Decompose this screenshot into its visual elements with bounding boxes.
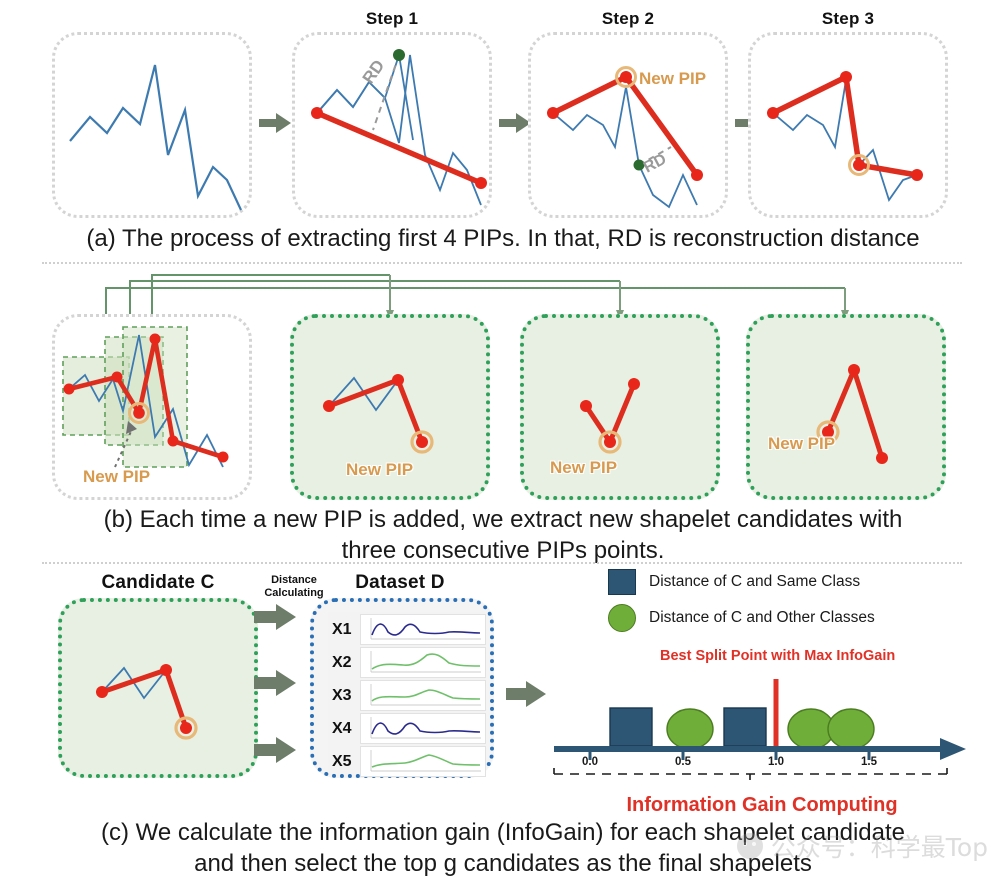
mini-chart xyxy=(360,614,486,645)
marker-square xyxy=(724,708,766,746)
mini-chart-svg xyxy=(361,747,485,776)
mini-chart-svg xyxy=(361,648,485,677)
panel-b-candidate-3: New PIP xyxy=(746,314,946,500)
caption-b-line1: (b) Each time a new PIP is added, we ext… xyxy=(0,504,1006,535)
dataset-row-x1: X1 xyxy=(332,614,486,645)
panel-c-dataset: X1 X2 xyxy=(310,598,494,778)
new-pip-label: New PIP xyxy=(550,458,617,478)
raw-series-chart xyxy=(55,35,255,221)
step3-chart xyxy=(751,35,951,221)
square-icon xyxy=(608,569,636,595)
figure-root: Step 1 RD Step 2 New PIP R xyxy=(0,0,1006,880)
mini-chart xyxy=(360,647,486,678)
caption-a: (a) The process of extracting first 4 PI… xyxy=(0,223,1006,254)
marker-circle xyxy=(788,709,834,749)
marker-circle xyxy=(667,709,713,749)
dataset-row-label: X3 xyxy=(332,687,352,705)
panel-a-step1: Step 1 RD xyxy=(292,32,492,218)
divider-a-b xyxy=(42,262,962,264)
panel-b-candidate-1: New PIP xyxy=(290,314,490,500)
new-pip-label: New PIP xyxy=(83,467,150,487)
arrow-right-icon xyxy=(258,110,294,136)
tick-label-1: 0.5 xyxy=(663,756,703,768)
new-pip-label: New PIP xyxy=(346,460,413,480)
panel-a-step2: Step 2 New PIP RD xyxy=(528,32,728,218)
mini-chart xyxy=(360,746,486,777)
mini-chart-svg xyxy=(361,615,485,644)
marker-circle xyxy=(828,709,874,749)
new-pip-label: New PIP xyxy=(768,434,835,454)
panel-a-step3: Step 3 xyxy=(748,32,948,218)
panel-a-step3-title: Step 3 xyxy=(751,9,945,29)
dataset-row-x5: X5 xyxy=(332,746,486,777)
panel-a-raw-series xyxy=(52,32,252,218)
caption-c-line2: and then select the top g candidates as … xyxy=(0,848,1006,879)
panel-a-step2-title: Step 2 xyxy=(531,9,725,29)
rd-label-a1: RD xyxy=(295,35,495,221)
panel-b-candidate-2: New PIP xyxy=(520,314,720,500)
caption-c-line1: (c) We calculate the information gain (I… xyxy=(0,817,1006,848)
marker-square xyxy=(610,708,652,746)
candidate-c-title: Candidate C xyxy=(52,572,264,594)
panel-b-source: New PIP xyxy=(52,314,252,500)
legend-label: Distance of C and Same Class xyxy=(649,573,860,591)
circle-icon xyxy=(608,604,636,632)
tick-label-3: 1.5 xyxy=(849,756,889,768)
svg-text:RD: RD xyxy=(359,56,389,87)
section-b: New PIP New PIP New PIP xyxy=(0,268,1006,558)
mini-chart-svg xyxy=(361,714,485,743)
infogain-axis-title: Information Gain Computing xyxy=(552,794,972,817)
axis-arrow-icon xyxy=(940,738,966,760)
mini-chart xyxy=(360,713,486,744)
dataset-d-title: Dataset D xyxy=(300,572,500,594)
dataset-row-label: X2 xyxy=(332,654,352,672)
panel-a-step1-title: Step 1 xyxy=(295,9,489,29)
dataset-row-label: X5 xyxy=(332,753,352,771)
section-a: Step 1 RD Step 2 New PIP R xyxy=(0,0,1006,255)
dataset-row-x3: X3 xyxy=(332,680,486,711)
arrow-right-icon xyxy=(504,680,548,708)
dataset-row-label: X4 xyxy=(332,720,352,738)
distance-arrows xyxy=(252,604,312,784)
legend-label: Distance of C and Other Classes xyxy=(649,609,875,627)
tick-label-2: 1.0 xyxy=(756,756,796,768)
dataset-row-x2: X2 xyxy=(332,647,486,678)
tick-label-0: 0.0 xyxy=(570,756,610,768)
legend-item-same-class: Distance of C and Same Class xyxy=(608,569,875,595)
dataset-row-label: X1 xyxy=(332,621,352,639)
section-c: Candidate C Distance Calculating xyxy=(0,562,1006,880)
best-split-label: Best Split Point with Max InfoGain xyxy=(660,648,895,664)
candidate-c-chart xyxy=(62,602,262,782)
mini-chart-svg xyxy=(361,681,485,710)
panel-c-candidate xyxy=(58,598,258,778)
legend-item-other-class: Distance of C and Other Classes xyxy=(608,604,875,632)
candidate-3-chart xyxy=(750,318,950,504)
dataset-row-x4: X4 xyxy=(332,713,486,744)
svg-text:RD: RD xyxy=(641,151,669,177)
infogain-legend: Distance of C and Same Class Distance of… xyxy=(608,569,875,641)
mini-chart xyxy=(360,680,486,711)
rd-label-a2: RD xyxy=(531,35,731,221)
